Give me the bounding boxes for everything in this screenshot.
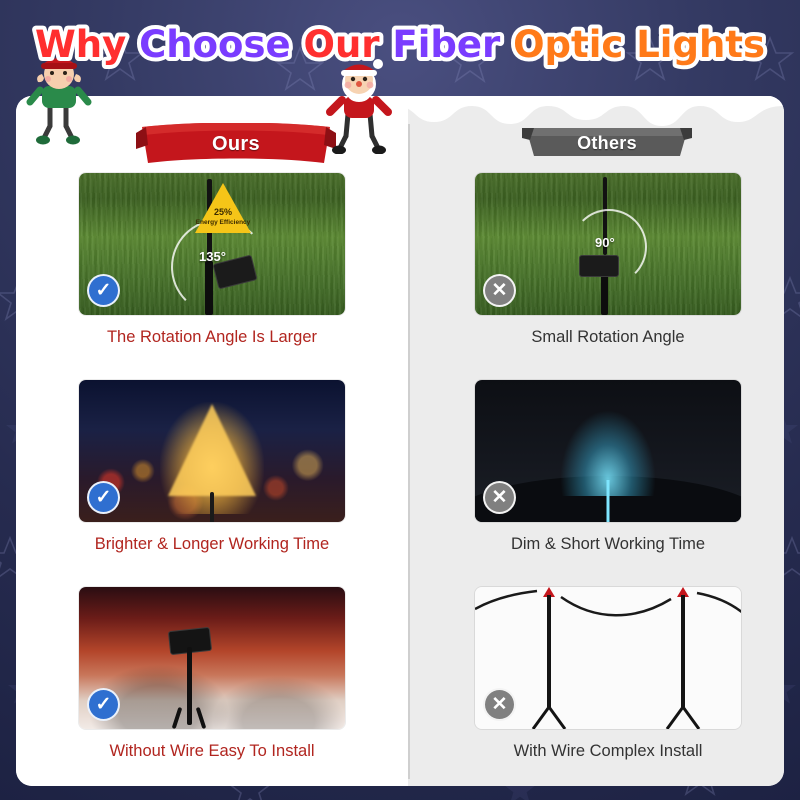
others-card-wired[interactable]: ✕ With Wire Complex Install — [474, 586, 742, 779]
tree-stake — [210, 492, 214, 523]
ours-thumb-rotation[interactable]: 135° 25% Energy Efficiency ✓ — [78, 172, 346, 316]
fiber-stem — [607, 480, 610, 523]
others-thumb-brightness[interactable]: ✕ — [474, 379, 742, 523]
ours-column: 135° 25% Energy Efficiency ✓ The Rotatio… — [78, 172, 346, 786]
others-thumb-rotation[interactable]: 90° ✕ — [474, 172, 742, 316]
others-thumb-wired[interactable]: ✕ — [474, 586, 742, 730]
others-card-rotation[interactable]: 90° ✕ Small Rotation Angle — [474, 172, 742, 365]
light-stake — [187, 647, 192, 725]
ours-card-brightness[interactable]: ✓ Brighter & Longer Working Time — [78, 379, 346, 572]
column-divider — [408, 124, 410, 779]
svg-text:Why Choose Our Fiber Optic Lig: Why Choose Our Fiber Optic Lights — [35, 23, 765, 66]
rotation-angle-label: 90° — [595, 235, 615, 250]
ours-ribbon-label: Ours — [136, 133, 336, 156]
efficiency-value: 25% — [188, 207, 258, 217]
others-caption-brightness: Dim & Short Working Time — [474, 534, 742, 572]
check-icon: ✓ — [87, 274, 120, 307]
ours-caption-brightness: Brighter & Longer Working Time — [78, 534, 346, 572]
others-card-brightness[interactable]: ✕ Dim & Short Working Time — [474, 379, 742, 572]
santa-character-icon — [318, 58, 414, 154]
x-icon: ✕ — [483, 481, 516, 514]
others-ribbon: Others — [522, 126, 692, 162]
check-icon: ✓ — [87, 481, 120, 514]
page-title: Why Choose Our Fiber Optic Lights Why Ch… — [0, 16, 800, 70]
x-icon: ✕ — [483, 688, 516, 721]
ours-card-wireless[interactable]: ✓ Without Wire Easy To Install — [78, 586, 346, 779]
ours-thumb-wireless[interactable]: ✓ — [78, 586, 346, 730]
ours-caption-rotation: The Rotation Angle Is Larger — [78, 327, 346, 365]
ours-ribbon: Ours — [136, 123, 336, 167]
x-icon: ✕ — [483, 274, 516, 307]
page-title-text: Why Choose Our Fiber Optic Lights Why Ch… — [15, 16, 785, 72]
others-caption-wired: With Wire Complex Install — [474, 741, 742, 779]
others-ribbon-label: Others — [522, 133, 692, 154]
comparison-panel: Ours Others 135° 25% Energy Efficiency — [16, 96, 784, 786]
ours-thumb-brightness[interactable]: ✓ — [78, 379, 346, 523]
rotation-angle-label: 135° — [199, 249, 226, 264]
fiber-tree-icon — [168, 404, 256, 496]
others-column: 90° ✕ Small Rotation Angle ✕ Dim & Short… — [474, 172, 742, 786]
efficiency-label: Energy Efficiency — [188, 218, 258, 228]
ours-card-rotation[interactable]: 135° 25% Energy Efficiency ✓ The Rotatio… — [78, 172, 346, 365]
others-caption-rotation: Small Rotation Angle — [474, 327, 742, 365]
check-icon: ✓ — [87, 688, 120, 721]
rotation-arc — [171, 219, 267, 315]
ours-caption-wireless: Without Wire Easy To Install — [78, 741, 346, 779]
